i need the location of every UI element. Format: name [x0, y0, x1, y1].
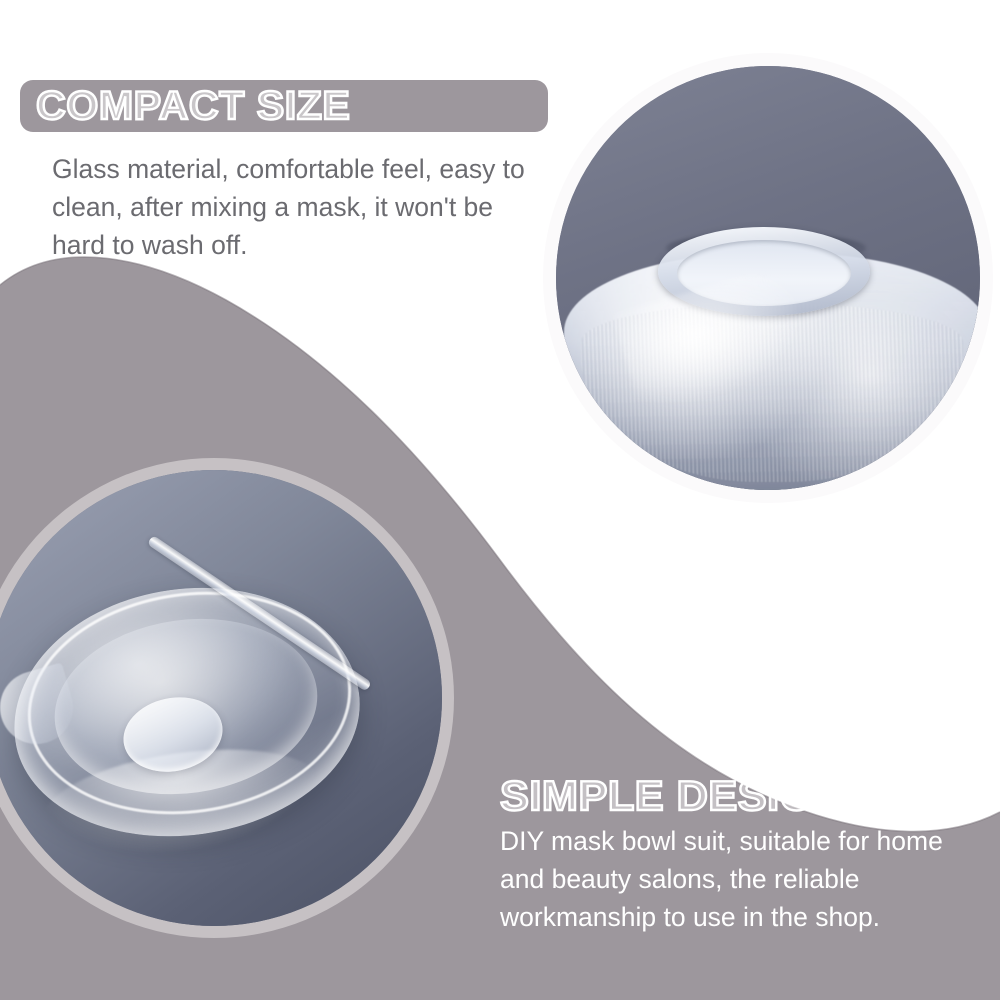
compact-size-body-text: Glass material, comfortable feel, easy t…: [52, 150, 552, 264]
photo-inverted-glass-bowl: [556, 66, 980, 490]
compact-size-heading: COMPACT SIZE: [36, 84, 350, 129]
photo-inner-top: [556, 66, 980, 490]
photo-inner-bottom: [0, 470, 442, 926]
photo-bowl-with-stick: [0, 470, 442, 926]
simple-design-heading: SIMPLE DESIGN: [500, 772, 846, 820]
product-feature-card: COMPACT SIZE Glass material, comfortable…: [0, 0, 1000, 1000]
simple-design-body-text: DIY mask bowl suit, suitable for home an…: [500, 822, 970, 936]
